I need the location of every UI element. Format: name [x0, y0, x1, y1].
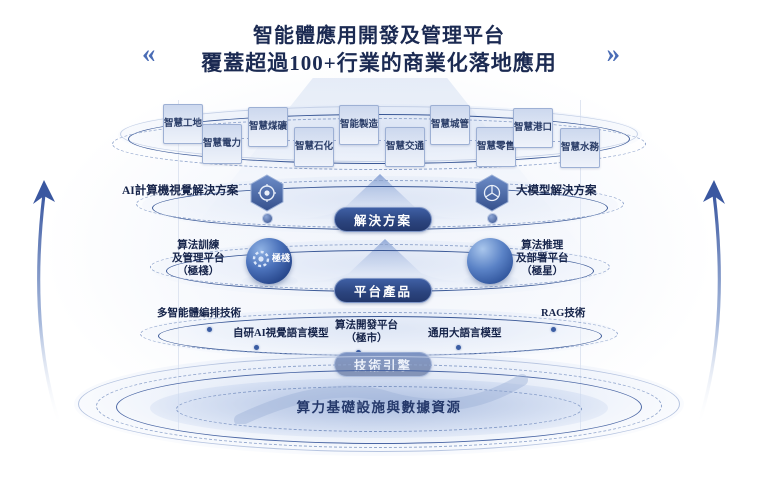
title-line-1: 智能體應用開發及管理平台: [0, 24, 758, 50]
chevron-right-icon: »: [607, 38, 617, 69]
cube-model-icon[interactable]: [475, 174, 509, 212]
industry-label-line2: 港口: [533, 123, 552, 134]
curved-arrow-up-left-icon: [22, 168, 92, 436]
pill-solution[interactable]: 解決方案: [334, 207, 432, 232]
industry-label-line2: 工地: [183, 119, 202, 130]
industry-label-line2: 煤礦: [268, 122, 287, 133]
solution-right-node: [487, 213, 498, 224]
platform-sphere-brand: 極棧: [272, 251, 290, 264]
platform-left-label-line1: 算法訓練: [172, 240, 225, 253]
platform-right-label-line1: 算法推理: [516, 240, 569, 253]
engine-node: [207, 327, 212, 332]
industry-label-line2: 石化: [314, 142, 333, 153]
engine-item-1: 自研AI視覺語言模型: [233, 328, 329, 341]
title-line-2: 覆蓋超過100+行業的商業化落地應用: [0, 50, 758, 77]
industry-label-line1: 智慧: [514, 123, 533, 134]
platform-right-label: 算法推理 及部署平台 （極星）: [516, 240, 569, 278]
engine-item-4: RAG技術: [541, 308, 585, 321]
industry-box[interactable]: 智慧 城管: [430, 105, 470, 145]
page-title: 智能體應用開發及管理平台 覆蓋超過100+行業的商業化落地應用: [0, 24, 758, 76]
platform-left-label: 算法訓練 及管理平台 （極棧）: [172, 240, 225, 278]
engine-item-3: 通用大語言模型: [428, 328, 502, 341]
engine-item-2: 算法開發平台 （極市）: [335, 320, 398, 346]
industry-box[interactable]: 智慧 交通: [385, 127, 425, 167]
industry-label-line2: 製造: [359, 120, 378, 131]
industry-box[interactable]: 智慧 零售: [476, 127, 516, 167]
industry-label-line2: 交通: [405, 142, 424, 153]
industry-box[interactable]: 智慧 電力: [202, 124, 242, 164]
engine-item-2-line1: 算法開發平台: [335, 320, 398, 333]
curved-arrow-up-right-icon: [666, 168, 736, 436]
engine-node: [551, 327, 556, 332]
engine-node: [456, 345, 461, 350]
engine-item-2-line2: （極市）: [335, 333, 398, 346]
diagram-canvas: 智能體應用開發及管理平台 覆蓋超過100+行業的商業化落地應用 « » 智慧 工…: [0, 0, 758, 481]
industry-label-line1: 智慧: [249, 122, 268, 133]
chevron-left-icon: «: [142, 38, 152, 69]
industry-label-line1: 智慧: [386, 142, 405, 153]
industry-box[interactable]: 智慧 煤礦: [248, 107, 288, 147]
platform-right-label-line2: 及部署平台: [516, 253, 569, 266]
industry-label-line1: 智慧: [431, 120, 450, 131]
industry-label-line2: 電力: [222, 139, 241, 150]
platform-right-label-line3: （極星）: [516, 266, 569, 279]
industry-label-line2: 水務: [580, 143, 599, 154]
platform-left-label-line2: 及管理平台: [172, 253, 225, 266]
industry-label-line1: 智慧: [561, 143, 580, 154]
solution-left-label: AI計算機視覺解決方案: [122, 184, 238, 198]
infra-label: 算力基礎設施與數據資源: [297, 396, 462, 416]
solution-right-label: 大模型解決方案: [516, 184, 597, 198]
pill-platform-label: 平台產品: [354, 281, 412, 300]
gear-icon: [252, 250, 270, 268]
industry-label-line1: 智慧: [477, 142, 496, 153]
pill-solution-label: 解決方案: [354, 210, 412, 229]
engine-item-0: 多智能體編排技術: [157, 308, 241, 321]
industry-box[interactable]: 智慧 水務: [560, 128, 600, 168]
industry-label-line2: 城管: [450, 120, 469, 131]
engine-node: [254, 345, 259, 350]
solution-left-node: [262, 213, 273, 224]
algo-inference-sphere[interactable]: [467, 238, 513, 284]
industry-box[interactable]: 智慧 石化: [294, 127, 334, 167]
eye-vision-icon[interactable]: [250, 174, 284, 212]
industry-label-line1: 智慧: [295, 142, 314, 153]
platform-left-label-line3: （極棧）: [172, 266, 225, 279]
industry-label-line1: 智慧: [203, 139, 222, 150]
industry-box[interactable]: 智能 製造: [339, 105, 379, 145]
industry-box[interactable]: 智慧 工地: [163, 104, 203, 144]
industry-label-line1: 智慧: [164, 119, 183, 130]
industry-box[interactable]: 智慧 港口: [513, 108, 553, 148]
industry-label-line1: 智能: [340, 120, 359, 131]
pill-platform[interactable]: 平台產品: [334, 278, 432, 303]
